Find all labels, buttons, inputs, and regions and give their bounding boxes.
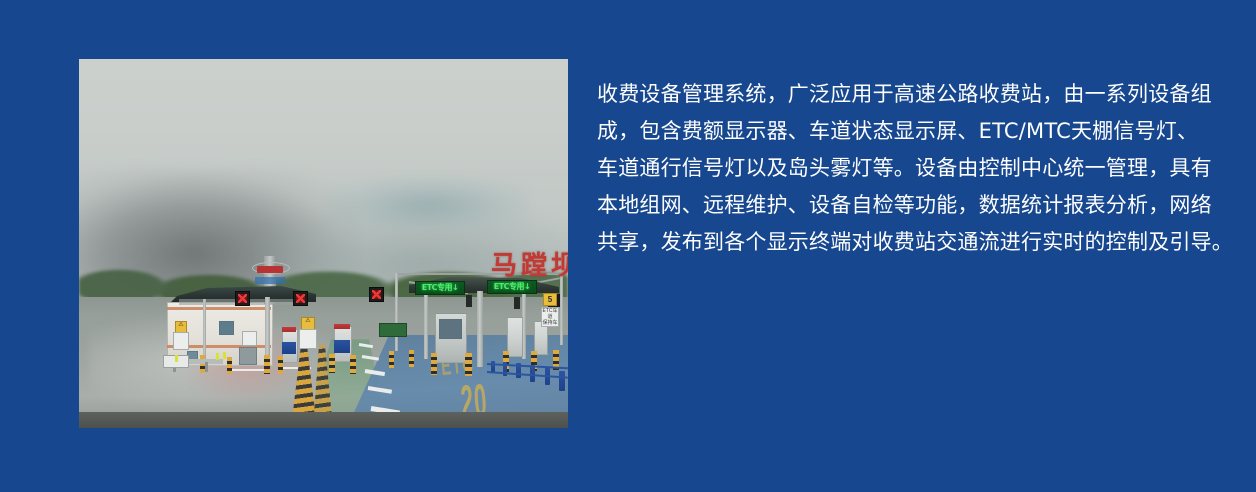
lane-signal-closed bbox=[235, 291, 250, 306]
tower-text-panel bbox=[255, 277, 285, 284]
lane-signal-closed bbox=[369, 287, 384, 302]
worker-hivis bbox=[216, 353, 219, 360]
toll-booth-base bbox=[334, 340, 350, 353]
canopy-support-pole bbox=[477, 291, 483, 367]
page-root: ETC 20 囲 bbox=[0, 0, 1256, 492]
description-text-block: 收费设备管理系统，广泛应用于高速公路收费站，由一系列设备组 成，包含费额显示器、… bbox=[597, 76, 1233, 261]
cloud-teal bbox=[329, 177, 529, 232]
etc-lane-sign: ETC专用↓ bbox=[487, 280, 537, 294]
toll-booth-base bbox=[282, 342, 296, 354]
traffic-bollard bbox=[329, 354, 335, 373]
canopy-support-pole bbox=[424, 295, 428, 359]
description-line: 成，包含费额显示器、车道状态显示屏、ETC/MTC天棚信号灯、 bbox=[597, 113, 1233, 150]
booth-window bbox=[439, 319, 462, 339]
roadside-info-sign bbox=[173, 332, 189, 350]
description-line: 收费设备管理系统，广泛应用于高速公路收费站，由一系列设备组 bbox=[597, 76, 1233, 113]
tower-logo bbox=[257, 266, 283, 273]
worker-hivis bbox=[175, 355, 178, 362]
station-name-sign: 马蹚坝 bbox=[491, 251, 568, 281]
etc-lane-sign: ETC专用↓ bbox=[415, 281, 465, 295]
traffic-signal-head bbox=[514, 297, 520, 309]
roadside-info-sign bbox=[299, 329, 317, 349]
traffic-bollard bbox=[278, 356, 283, 374]
traffic-bollard bbox=[431, 353, 437, 375]
lane-dash bbox=[229, 369, 269, 371]
description-line: 车道通行信号灯以及岛头雾灯等。设备由控制中心统一管理，具有 bbox=[597, 150, 1233, 187]
toll-station-photo: ETC 20 囲 bbox=[79, 59, 568, 428]
lane-signal-closed bbox=[293, 291, 308, 306]
building-door bbox=[239, 347, 257, 365]
toll-booth-cap bbox=[282, 327, 296, 332]
traffic-signal-head bbox=[466, 295, 472, 307]
canopy-support-pole bbox=[203, 299, 206, 361]
toll-booth bbox=[507, 317, 523, 357]
building-window bbox=[219, 321, 234, 335]
traffic-bollard bbox=[350, 355, 356, 374]
roadside-etc-line1: ETC车道 bbox=[542, 308, 558, 320]
guardrail-post bbox=[559, 371, 565, 391]
roadside-speed-sign: 5 bbox=[543, 293, 557, 306]
roadside-etc-line2: 保持车距 bbox=[542, 320, 558, 327]
traffic-bollard bbox=[264, 355, 270, 374]
toll-booth-cap bbox=[334, 324, 350, 329]
photo-content: ETC 20 囲 bbox=[79, 59, 568, 428]
roadside-etc-sign: ETC车道 保持车距 bbox=[541, 307, 559, 327]
description-line: 共享，发布到各个显示终端对收费站交通流进行实时的控制及引导。 bbox=[597, 224, 1233, 261]
highway-guide-sign bbox=[379, 323, 407, 337]
traffic-bollard bbox=[465, 353, 472, 376]
gantry-pole bbox=[395, 273, 398, 351]
gantry-pole bbox=[560, 273, 563, 345]
traffic-bollard bbox=[227, 357, 232, 374]
foreground-asphalt bbox=[79, 412, 568, 428]
worker-hivis bbox=[223, 352, 226, 359]
guardrail-left-post bbox=[205, 362, 208, 372]
traffic-bollard bbox=[389, 351, 394, 368]
description-line: 本地组网、远程维护、设备自检等功能，数据统计报表分析，网络 bbox=[597, 187, 1233, 224]
building-band bbox=[167, 307, 271, 310]
roadside-info-sign bbox=[242, 331, 257, 346]
traffic-bollard bbox=[409, 350, 414, 367]
